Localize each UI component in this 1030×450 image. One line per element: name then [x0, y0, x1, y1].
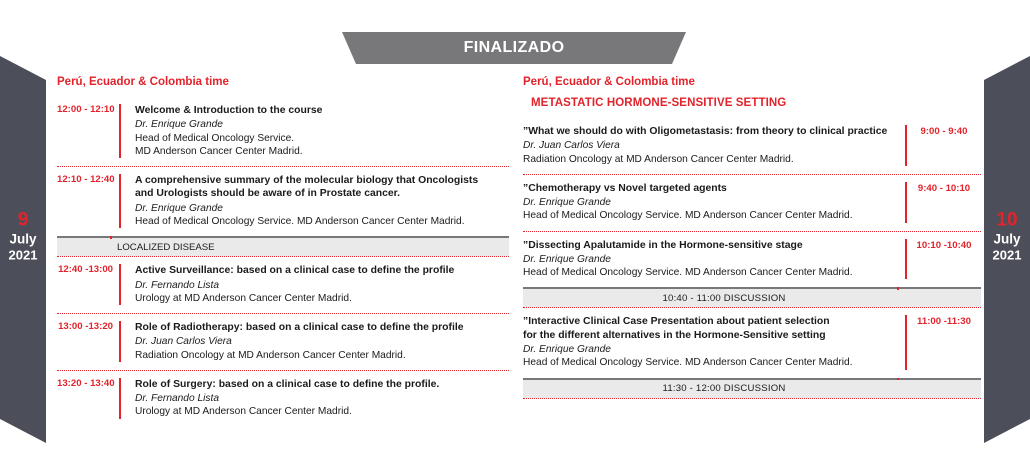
day-year-left: 2021 [0, 247, 46, 263]
day-banner-left: 9 July 2021 [0, 28, 46, 443]
day-banner-right-inner: 10 July 2021 [984, 208, 1030, 264]
session-affiliation: Head of Medical Oncology Service. MD And… [523, 266, 893, 279]
session-affiliation-2: MD Anderson Cancer Center Madrid. [135, 145, 509, 158]
band-red-tick [897, 287, 899, 289]
session-title: A comprehensive summary of the molecular… [135, 174, 509, 187]
session-speaker: Dr. Enrique Grande [523, 343, 893, 356]
session-title-2: for the different alternatives in the Ho… [523, 329, 893, 342]
day-number-right: 10 [984, 208, 1030, 231]
session-time: 12:10 - 12:40 [57, 174, 113, 228]
session-speaker: Dr. Fernando Lista [135, 392, 509, 405]
session-title: Active Surveillance: based on a clinical… [135, 264, 509, 277]
session-row[interactable]: 12:10 - 12:40 A comprehensive summary of… [57, 166, 509, 236]
session-title: Role of Surgery: based on a clinical cas… [135, 378, 509, 391]
day-month-right: July [984, 231, 1030, 247]
session-affiliation: Urology at MD Anderson Cancer Center Mad… [135, 292, 509, 305]
session-row[interactable]: 13:00 -13:20 Role of Radiotherapy: based… [57, 313, 509, 370]
agenda-column-day9: Perú, Ecuador & Colombia time 12:00 - 12… [57, 76, 509, 427]
timezone-header-right: Perú, Ecuador & Colombia time [523, 76, 981, 88]
session-time: 13:00 -13:20 [57, 321, 113, 362]
discussion-band-label: 11:30 - 12:00 DISCUSSION [663, 383, 786, 394]
section-title-metastatic: METASTATIC HORMONE-SENSITIVE SETTING [531, 97, 981, 109]
session-time: 9:40 - 10:10 [907, 182, 981, 223]
session-affiliation: Head of Medical Oncology Service. MD And… [523, 356, 893, 369]
session-title: ”Chemotherapy vs Novel targeted agents [523, 182, 893, 195]
session-speaker: Dr. Fernando Lista [135, 279, 509, 292]
session-body: Active Surveillance: based on a clinical… [119, 264, 509, 305]
day-banner-left-inner: 9 July 2021 [0, 208, 46, 264]
session-body: ”Chemotherapy vs Novel targeted agents D… [523, 182, 907, 223]
agenda-column-day10: Perú, Ecuador & Colombia time METASTATIC… [523, 76, 981, 399]
discussion-band: 11:30 - 12:00 DISCUSSION [523, 378, 981, 398]
divider-dotted [523, 398, 981, 399]
session-body: Welcome & Introduction to the course Dr.… [119, 104, 509, 158]
session-affiliation: Head of Medical Oncology Service. MD And… [523, 209, 893, 222]
session-row[interactable]: 12:00 - 12:10 Welcome & Introduction to … [57, 97, 509, 166]
session-speaker: Dr. Enrique Grande [523, 196, 893, 209]
discussion-band: 10:40 - 11:00 DISCUSSION [523, 287, 981, 307]
section-band-localized-disease: LOCALIZED DISEASE [57, 236, 509, 256]
session-affiliation: Urology at MD Anderson Cancer Center Mad… [135, 405, 509, 418]
session-time: 10:10 -10:40 [907, 239, 981, 280]
session-body: ”What we should do with Oligometastasis:… [523, 125, 907, 166]
session-affiliation: Radiation Oncology at MD Anderson Cancer… [135, 349, 509, 362]
session-time: 12:00 - 12:10 [57, 104, 113, 158]
session-title: ”What we should do with Oligometastasis:… [523, 125, 893, 138]
section-band-label: LOCALIZED DISEASE [117, 242, 215, 253]
session-speaker: Dr. Enrique Grande [135, 118, 509, 131]
session-title: ”Interactive Clinical Case Presentation … [523, 315, 893, 328]
session-row[interactable]: ”Chemotherapy vs Novel targeted agents D… [523, 174, 981, 231]
session-speaker: Dr. Juan Carlos Viera [523, 139, 893, 152]
session-row[interactable]: ”Interactive Clinical Case Presentation … [523, 307, 981, 377]
session-time: 12:40 -13:00 [57, 264, 113, 305]
session-body: ”Dissecting Apalutamide in the Hormone-s… [523, 239, 907, 280]
session-row[interactable]: ”Dissecting Apalutamide in the Hormone-s… [523, 231, 981, 288]
session-body: Role of Radiotherapy: based on a clinica… [119, 321, 509, 362]
session-speaker: Dr. Juan Carlos Viera [135, 335, 509, 348]
session-speaker: Dr. Enrique Grande [135, 202, 509, 215]
session-body: A comprehensive summary of the molecular… [119, 174, 509, 228]
band-red-tick [897, 378, 899, 380]
session-title: ”Dissecting Apalutamide in the Hormone-s… [523, 239, 893, 252]
agenda-page: 9 July 2021 10 July 2021 FINALIZADO Perú… [0, 0, 1030, 450]
session-title-2: and Urologists should be aware of in Pro… [135, 187, 509, 200]
session-affiliation: Head of Medical Oncology Service. MD And… [135, 215, 509, 228]
session-row[interactable]: 13:20 - 13:40 Role of Surgery: based on … [57, 370, 509, 427]
session-affiliation: Head of Medical Oncology Service. [135, 132, 509, 145]
day-month-left: July [0, 231, 46, 247]
session-time: 9:00 - 9:40 [907, 125, 981, 166]
session-title: Welcome & Introduction to the course [135, 104, 509, 117]
day-year-right: 2021 [984, 247, 1030, 263]
day-banner-right: 10 July 2021 [984, 28, 1030, 443]
session-body: Role of Surgery: based on a clinical cas… [119, 378, 509, 419]
timezone-header-left: Perú, Ecuador & Colombia time [57, 76, 509, 88]
session-title: Role of Radiotherapy: based on a clinica… [135, 321, 509, 334]
session-time: 13:20 - 13:40 [57, 378, 113, 419]
band-red-tick [110, 236, 112, 238]
day-number-left: 9 [0, 208, 46, 231]
session-body: ”Interactive Clinical Case Presentation … [523, 315, 907, 369]
session-row[interactable]: 12:40 -13:00 Active Surveillance: based … [57, 256, 509, 313]
discussion-band-label: 10:40 - 11:00 DISCUSSION [663, 293, 786, 304]
session-row[interactable]: ”What we should do with Oligometastasis:… [523, 118, 981, 174]
session-speaker: Dr. Enrique Grande [523, 253, 893, 266]
session-affiliation: Radiation Oncology at MD Anderson Cancer… [523, 153, 893, 166]
status-badge-finalizado: FINALIZADO [342, 32, 686, 64]
session-time: 11:00 -11:30 [907, 315, 981, 369]
